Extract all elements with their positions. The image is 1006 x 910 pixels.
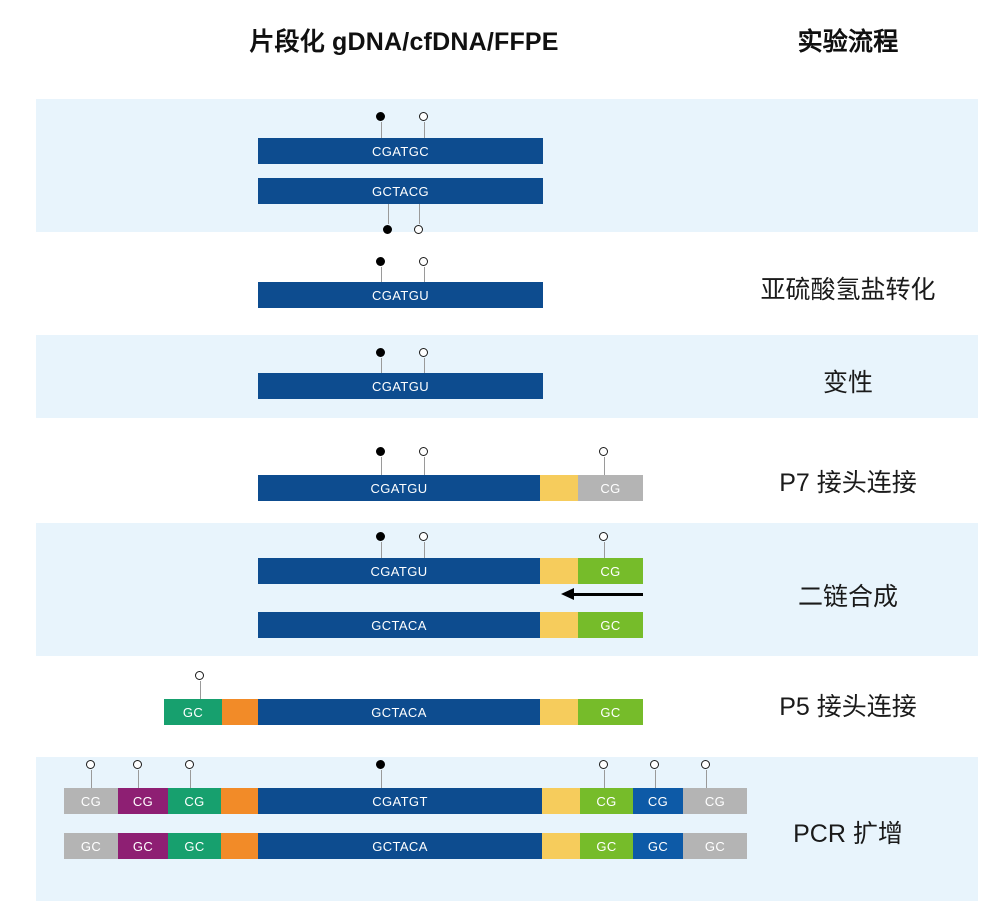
dna-strand-top: CGATGU CG bbox=[258, 558, 643, 584]
methylation-marker-hollow bbox=[190, 770, 191, 790]
dna-segment-yellow bbox=[542, 833, 580, 859]
dna-segment-gray: CG bbox=[683, 788, 747, 814]
lollipop-head-hollow bbox=[185, 760, 194, 769]
dna-segment-purple: GC bbox=[118, 833, 168, 859]
step-label-pcr: PCR 扩增 bbox=[718, 814, 978, 850]
dna-segment-gray: CG bbox=[64, 788, 118, 814]
lollipop-head-filled bbox=[376, 447, 385, 456]
dna-segment-yellow bbox=[540, 558, 578, 584]
row-band-fragmentation bbox=[36, 99, 978, 232]
dna-strand-top: CGATGU bbox=[258, 373, 543, 399]
lollipop-head-hollow bbox=[701, 760, 710, 769]
lollipop-head-hollow bbox=[414, 225, 423, 234]
dna-segment-blue: CGATGU bbox=[258, 558, 540, 584]
methylation-marker-hollow bbox=[200, 681, 201, 701]
dna-segment-orange bbox=[222, 699, 258, 725]
dna-segment-navy: GC bbox=[633, 833, 683, 859]
arrow-head bbox=[561, 588, 574, 600]
dna-strand-top: CG CG CG CGATGT CG CG CG bbox=[64, 788, 747, 814]
dna-strand-bottom: GC GCTACA GC bbox=[164, 699, 643, 725]
dna-segment-orange bbox=[221, 788, 258, 814]
step-label-p7-ligation: P7 接头连接 bbox=[718, 463, 978, 499]
methylation-marker-filled bbox=[381, 457, 382, 477]
dna-segment-gray: GC bbox=[64, 833, 118, 859]
step-label-denaturation: 变性 bbox=[718, 363, 978, 399]
dna-strand-top: CGATGU bbox=[258, 282, 543, 308]
lollipop-head-filled bbox=[376, 348, 385, 357]
methylation-marker-filled bbox=[388, 204, 389, 224]
dna-segment-navy: CG bbox=[633, 788, 683, 814]
lollipop-head-hollow bbox=[599, 447, 608, 456]
dna-segment-blue: CGATGU bbox=[258, 475, 540, 501]
lollipop-head-hollow bbox=[419, 447, 428, 456]
dna-segment-blue: GCTACA bbox=[258, 699, 540, 725]
dna-segment-orange bbox=[221, 833, 258, 859]
dna-segment-blue: GCTACA bbox=[258, 833, 542, 859]
lollipop-head-hollow bbox=[650, 760, 659, 769]
lollipop-head-hollow bbox=[195, 671, 204, 680]
methylation-marker-hollow bbox=[138, 770, 139, 790]
dna-segment-blue: CGATGU bbox=[258, 373, 543, 399]
step-label-bisulfite: 亚硫酸氢盐转化 bbox=[718, 270, 978, 306]
dna-segment-green: CG bbox=[580, 788, 633, 814]
lollipop-head-hollow bbox=[133, 760, 142, 769]
dna-segment-teal: GC bbox=[164, 699, 222, 725]
lollipop-head-filled bbox=[376, 760, 385, 769]
dna-segment-yellow bbox=[540, 475, 578, 501]
lollipop-head-hollow bbox=[419, 532, 428, 541]
dna-segment-blue: CGATGU bbox=[258, 282, 543, 308]
lollipop-head-hollow bbox=[86, 760, 95, 769]
methylation-marker-hollow bbox=[604, 770, 605, 790]
methylation-marker-hollow bbox=[655, 770, 656, 790]
lollipop-head-filled bbox=[376, 532, 385, 541]
methylation-marker-hollow bbox=[604, 457, 605, 477]
page-title-right: 实验流程 bbox=[718, 22, 978, 58]
lollipop-head-hollow bbox=[419, 257, 428, 266]
dna-strand-bottom: GCTACG bbox=[258, 178, 543, 204]
dna-segment-green: GC bbox=[580, 833, 633, 859]
dna-segment-gray: CG bbox=[578, 475, 643, 501]
dna-strand-top: CGATGC bbox=[258, 138, 543, 164]
step-label-second-strand: 二链合成 bbox=[718, 577, 978, 613]
dna-segment-blue: GCTACG bbox=[258, 178, 543, 204]
lollipop-head-filled bbox=[376, 257, 385, 266]
dna-segment-purple: CG bbox=[118, 788, 168, 814]
dna-strand-bottom: GC GC GC GCTACA GC GC GC bbox=[64, 833, 747, 859]
dna-segment-blue: CGATGC bbox=[258, 138, 543, 164]
lollipop-head-hollow bbox=[599, 532, 608, 541]
methylation-marker-hollow bbox=[424, 457, 425, 477]
methylation-marker-hollow bbox=[419, 204, 420, 224]
dna-segment-yellow bbox=[542, 788, 580, 814]
synthesis-direction-arrow bbox=[561, 590, 643, 603]
dna-segment-yellow bbox=[540, 699, 578, 725]
dna-segment-yellow bbox=[540, 612, 578, 638]
dna-segment-teal: GC bbox=[168, 833, 221, 859]
methylation-marker-filled bbox=[381, 770, 382, 790]
lollipop-head-filled bbox=[376, 112, 385, 121]
methylation-marker-hollow bbox=[91, 770, 92, 790]
dna-segment-green: CG bbox=[578, 558, 643, 584]
dna-segment-green: GC bbox=[578, 699, 643, 725]
dna-segment-blue: CGATGT bbox=[258, 788, 542, 814]
dna-strand-top: CGATGU CG bbox=[258, 475, 643, 501]
methylation-marker-hollow bbox=[706, 770, 707, 790]
step-label-p5-ligation: P5 接头连接 bbox=[718, 687, 978, 723]
dna-strand-bottom: GCTACA GC bbox=[258, 612, 643, 638]
lollipop-head-hollow bbox=[419, 348, 428, 357]
dna-segment-blue: GCTACA bbox=[258, 612, 540, 638]
lollipop-head-hollow bbox=[599, 760, 608, 769]
arrow-shaft bbox=[571, 593, 643, 596]
dna-segment-green: GC bbox=[578, 612, 643, 638]
lollipop-head-filled bbox=[383, 225, 392, 234]
page-title-left: 片段化 gDNA/cfDNA/FFPE bbox=[0, 22, 808, 58]
diagram-canvas: 片段化 gDNA/cfDNA/FFPE 实验流程 CGATGC GCTACG C… bbox=[0, 0, 1006, 910]
lollipop-head-hollow bbox=[419, 112, 428, 121]
dna-segment-teal: CG bbox=[168, 788, 221, 814]
